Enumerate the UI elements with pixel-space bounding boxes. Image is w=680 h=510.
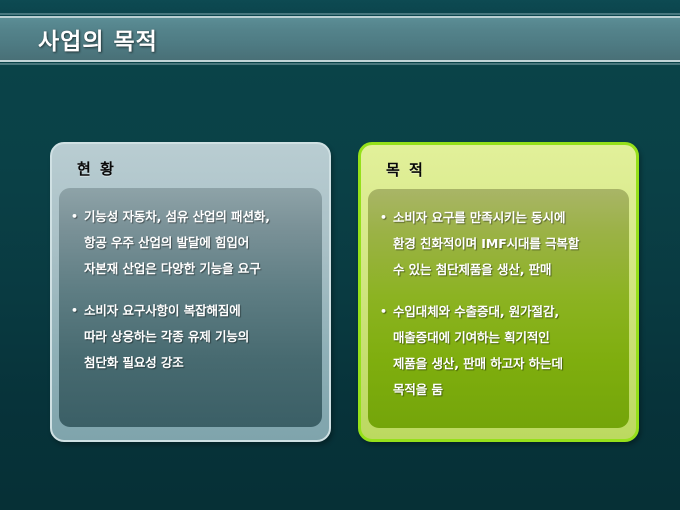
panel-container: 현 황 기능성 자동차, 섬유 산업의 패션화, 항공 우주 산업의 발달에 힘… [0,142,680,447]
bullet-line: 목적을 둠 [393,377,617,403]
current-status-bullet-list: 기능성 자동차, 섬유 산업의 패션화, 항공 우주 산업의 발달에 힘입어 자… [71,204,310,376]
bullet-line: 소비자 요구를 만족시키는 동시에 [393,205,617,231]
panel-objective-title: 목 적 [368,152,629,189]
list-item: 소비자 요구사항이 복잡해짐에 따라 상응하는 각종 유제 기능의 첨단화 필요… [71,298,310,376]
list-item: 수입대체와 수출증대, 원가절감, 매출증대에 기여하는 획기적인 제품을 생산… [380,299,617,403]
list-item: 소비자 요구를 만족시키는 동시에 환경 친화적이며 IMF시대를 극복할 수 … [380,205,617,283]
page-title: 사업의 목적 [38,22,158,56]
bullet-line: 매출증대에 기여하는 획기적인 [393,325,617,351]
bullet-line: 첨단화 필요성 강조 [84,350,310,376]
panel-objective-body: 소비자 요구를 만족시키는 동시에 환경 친화적이며 IMF시대를 극복할 수 … [368,189,629,428]
bullet-line: 따라 상응하는 각종 유제 기능의 [84,324,310,350]
panel-current-status-title: 현 황 [59,151,322,188]
bullet-line: 수입대체와 수출증대, 원가절감, [393,299,617,325]
panel-objective[interactable]: 목 적 소비자 요구를 만족시키는 동시에 환경 친화적이며 IMF시대를 극복… [358,142,639,442]
panel-current-status[interactable]: 현 황 기능성 자동차, 섬유 산업의 패션화, 항공 우주 산업의 발달에 힘… [50,142,331,442]
slide-title-band: 사업의 목적 [0,16,680,62]
objective-bullet-list: 소비자 요구를 만족시키는 동시에 환경 친화적이며 IMF시대를 극복할 수 … [380,205,617,403]
list-item: 기능성 자동차, 섬유 산업의 패션화, 항공 우주 산업의 발달에 힘입어 자… [71,204,310,282]
slide-canvas: 사업의 목적 현 황 기능성 자동차, 섬유 산업의 패션화, 항공 우주 산업… [0,0,680,510]
bullet-line: 제품을 생산, 판매 하고자 하는데 [393,351,617,377]
bullet-line: 환경 친화적이며 IMF시대를 극복할 [393,231,617,257]
bullet-line: 소비자 요구사항이 복잡해짐에 [84,298,310,324]
bullet-line: 항공 우주 산업의 발달에 힘입어 [84,230,310,256]
panel-current-status-body: 기능성 자동차, 섬유 산업의 패션화, 항공 우주 산업의 발달에 힘입어 자… [59,188,322,427]
bullet-line: 수 있는 첨단제품을 생산, 판매 [393,257,617,283]
bullet-line: 자본재 산업은 다양한 기능을 요구 [84,256,310,282]
bullet-line: 기능성 자동차, 섬유 산업의 패션화, [84,204,310,230]
